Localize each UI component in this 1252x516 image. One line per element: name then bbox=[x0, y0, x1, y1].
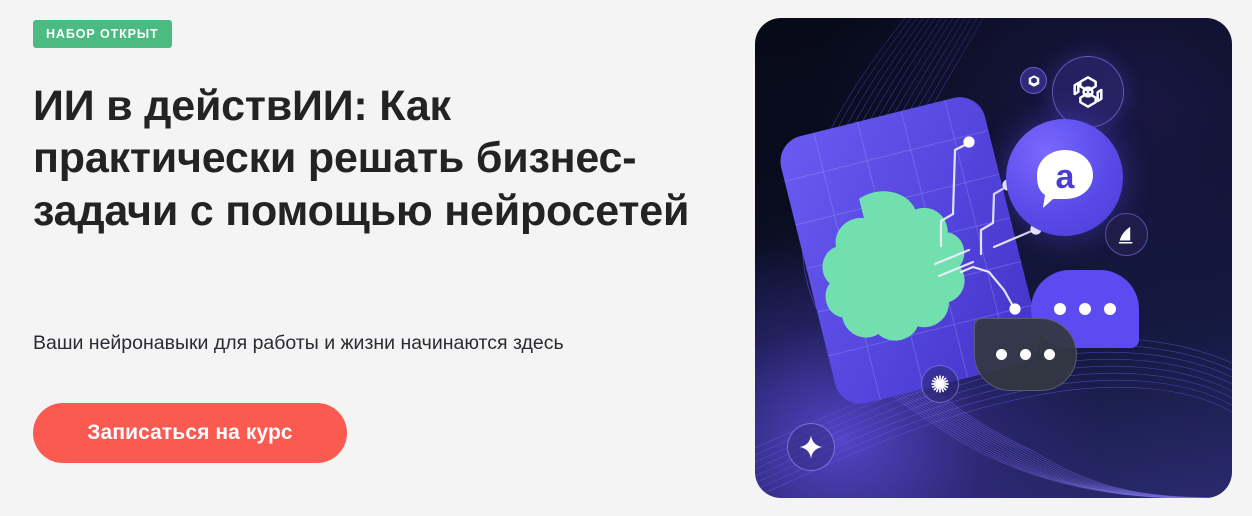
hero-banner: НАБОР ОТКРЫТ ИИ в действИИ: Как практиче… bbox=[0, 0, 1252, 516]
sparkle-glyph bbox=[798, 434, 824, 460]
hero-subtitle: Ваши нейронавыки для работы и жизни начи… bbox=[33, 330, 733, 357]
bubble-dot bbox=[996, 349, 1007, 360]
bubble-dot bbox=[1079, 303, 1091, 315]
svg-text:a: a bbox=[1055, 158, 1075, 196]
openai-logo-icon bbox=[1052, 56, 1124, 128]
bubble-dot bbox=[1020, 349, 1031, 360]
burst-badge-icon bbox=[921, 365, 959, 403]
bubble-dot bbox=[1104, 303, 1116, 315]
sail-badge-icon bbox=[1105, 213, 1148, 256]
status-badge: НАБОР ОТКРЫТ bbox=[33, 20, 172, 48]
hero-text-column: НАБОР ОТКРЫТ ИИ в действИИ: Как практиче… bbox=[33, 0, 733, 516]
alice-glyph: a bbox=[1029, 142, 1101, 214]
openai-knot-glyph bbox=[1068, 72, 1108, 112]
cube-badge-icon bbox=[1020, 67, 1047, 94]
burst-glyph bbox=[930, 374, 950, 394]
hero-illustration: a bbox=[755, 18, 1232, 498]
enroll-button[interactable]: Записаться на курс bbox=[33, 403, 347, 463]
alice-assistant-icon: a bbox=[1006, 119, 1123, 236]
dark-chat-bubble bbox=[974, 318, 1077, 391]
bubble-dot bbox=[1054, 303, 1066, 315]
page-title: ИИ в действИИ: Как практически решать би… bbox=[33, 80, 705, 237]
sail-glyph bbox=[1116, 224, 1138, 246]
cube-glyph bbox=[1027, 74, 1041, 88]
bubble-dot bbox=[1044, 349, 1055, 360]
sparkle-badge-icon bbox=[787, 423, 835, 471]
illustration-artwork bbox=[755, 18, 1232, 498]
